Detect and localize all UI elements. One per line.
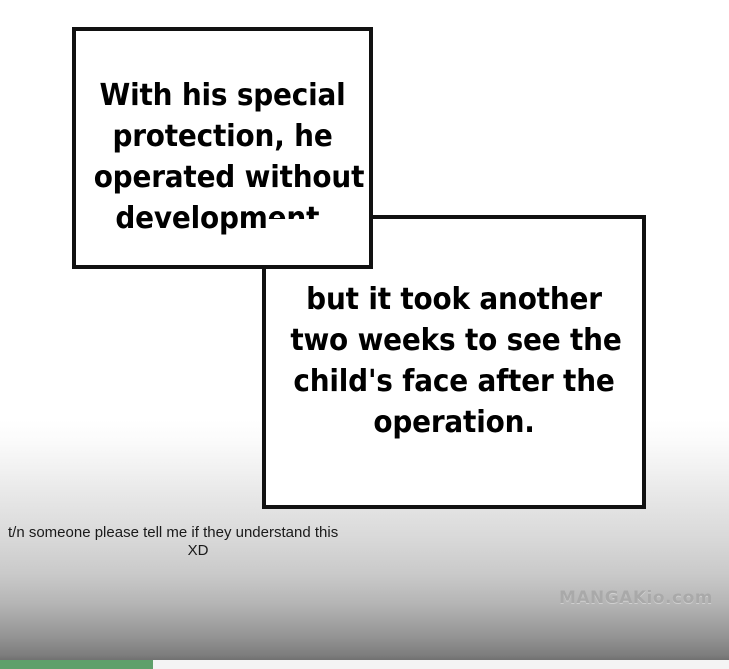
translator-note: t/n someone please tell me if they under…	[8, 524, 388, 560]
speech-line: two weeks to see the	[290, 320, 617, 361]
panel-seam-mask	[266, 219, 369, 265]
site-watermark: MANGAKio.com	[559, 588, 713, 608]
speech-line: child's face after the	[290, 361, 617, 402]
speech-line: With his special	[94, 75, 352, 116]
speech-line: but it took another	[290, 279, 617, 320]
reading-progress-fill	[0, 660, 153, 669]
speech-panel-upper-left-text: With his special protection, he operated…	[86, 75, 358, 239]
translator-note-line-2: XD	[8, 542, 388, 560]
reading-progress-bar[interactable]	[0, 660, 729, 669]
speech-line: protection, he	[94, 116, 352, 157]
speech-line: operated without	[94, 157, 352, 198]
speech-panel-lower-right-text: but it took another two weeks to see the…	[279, 279, 629, 443]
speech-line: operation.	[290, 402, 617, 443]
translator-note-line-1: t/n someone please tell me if they under…	[8, 524, 388, 542]
manga-reader-page: With his special protection, he operated…	[0, 0, 729, 669]
